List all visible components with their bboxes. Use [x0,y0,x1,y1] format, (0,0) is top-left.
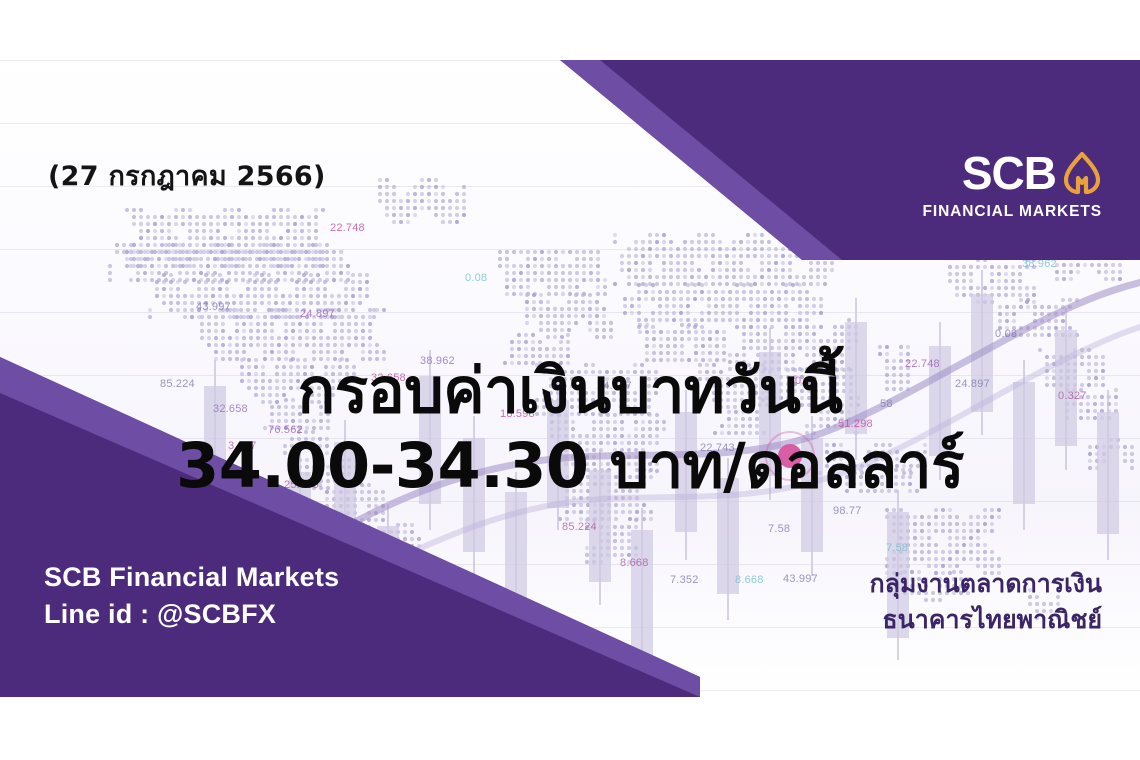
headline-block: กรอบค่าเงินบาทวันนี้ 34.00-34.30 บาท/ดอล… [0,356,1140,501]
footer-department-th: กลุ่มงานตลาดการเงิน [869,566,1102,602]
footer-brand-name: SCB Financial Markets [44,559,339,596]
headline-line-1: กรอบค่าเงินบาทวันนี้ [0,356,1140,425]
footer-line-id[interactable]: Line id : @SCBFX [44,596,339,633]
poster-root: 22.74843.99724.89738.96232.65885.22432.6… [0,0,1140,760]
scb-logo-block: SCB FINANCIAL MARKETS [923,150,1102,221]
date-label: (27 กรกฎาคม 2566) [48,154,326,197]
footer-left-block: SCB Financial Markets Line id : @SCBFX [44,559,339,634]
banner-card: 22.74843.99724.89738.96232.65885.22432.6… [0,60,1140,697]
scb-wordmark: SCB [962,150,1056,196]
footer-right-block: กลุ่มงานตลาดการเงิน ธนาคารไทยพาณิชย์ [869,566,1102,637]
scb-logo-subtitle: FINANCIAL MARKETS [923,203,1102,221]
footer-bank-name-th: ธนาคารไทยพาณิชย์ [869,602,1102,638]
headline-line-2: 34.00-34.30 บาท/ดอลลาร์ [0,431,1140,500]
scb-bodhi-leaf-icon [1062,151,1102,195]
